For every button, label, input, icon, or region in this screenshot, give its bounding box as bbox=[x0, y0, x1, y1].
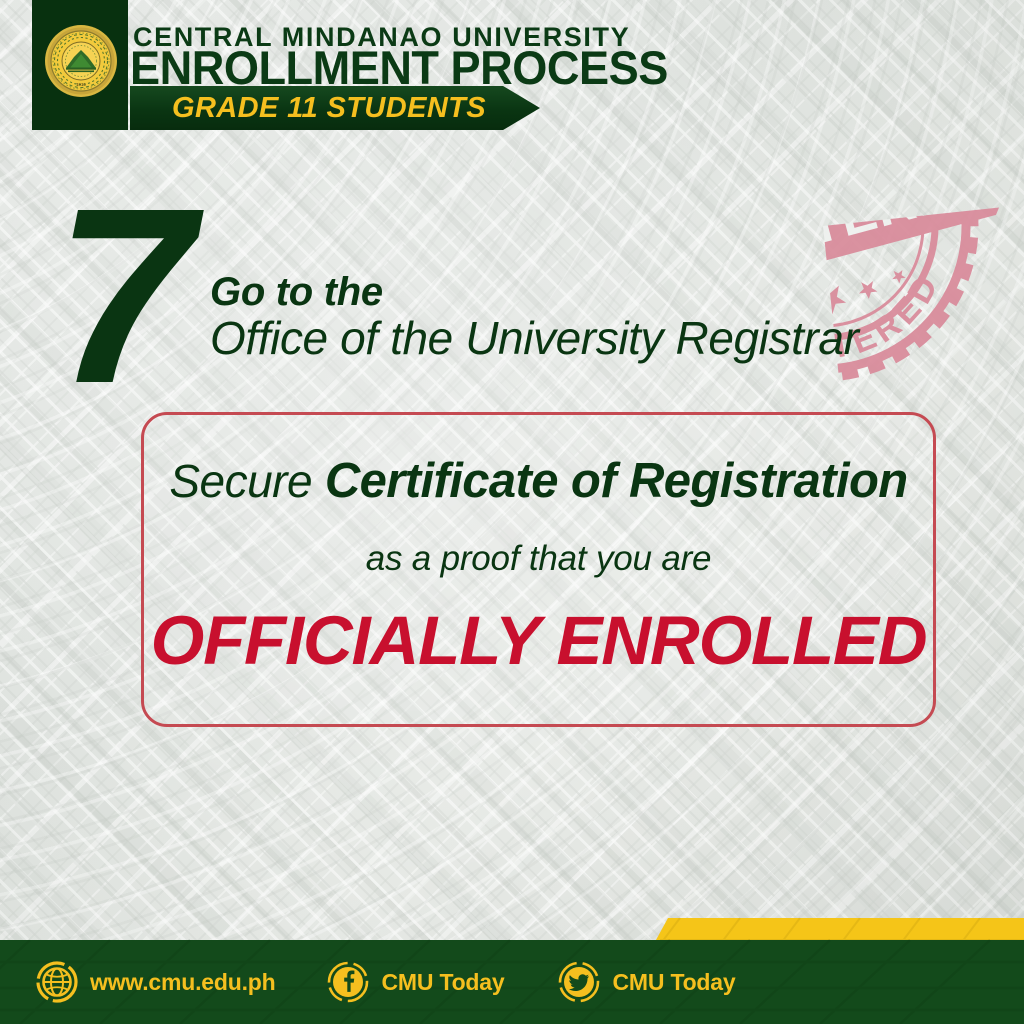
cmu-university-seal-icon: 1910 bbox=[44, 24, 118, 98]
footer-item-twitter[interactable]: CMU Today bbox=[558, 961, 735, 1003]
footer-links: www.cmu.edu.ph CMU Today bbox=[0, 940, 1024, 1024]
footer-facebook-label: CMU Today bbox=[381, 969, 504, 996]
poster-root: REGISTERED REGISTERED bbox=[0, 0, 1024, 1024]
instruction-line-1-prefix: Secure bbox=[169, 455, 312, 507]
globe-icon bbox=[36, 961, 78, 1003]
instruction-line-2: as a proof that you are bbox=[366, 539, 712, 579]
footer-item-website[interactable]: www.cmu.edu.ph bbox=[36, 961, 275, 1003]
instruction-line-1-emphasis: Certificate of Registration bbox=[325, 454, 908, 508]
audience-banner-label: GRADE 11 STUDENTS bbox=[172, 92, 486, 125]
page-title: ENROLLMENT PROCESS bbox=[130, 44, 668, 91]
footer-website-label: www.cmu.edu.ph bbox=[90, 969, 275, 996]
audience-banner: GRADE 11 STUDENTS bbox=[130, 86, 540, 130]
facebook-icon bbox=[327, 961, 369, 1003]
step-heading-line-2: Office of the University Registrar bbox=[210, 315, 859, 362]
instruction-line-1: Secure Certificate of Registration bbox=[169, 453, 907, 509]
poster-header: 1910 CENTRAL MINDANAO UNIVERSITY ENROLLM… bbox=[0, 0, 1024, 140]
twitter-icon bbox=[558, 961, 600, 1003]
step-heading: Go to the Office of the University Regis… bbox=[210, 272, 859, 362]
step-heading-line-1: Go to the bbox=[210, 272, 859, 313]
svg-text:1910: 1910 bbox=[76, 82, 86, 87]
footer-band: www.cmu.edu.ph CMU Today bbox=[0, 900, 1024, 1024]
instruction-box: Secure Certificate of Registration as a … bbox=[141, 412, 936, 727]
step-number: 7 bbox=[55, 186, 186, 406]
footer-twitter-label: CMU Today bbox=[612, 969, 735, 996]
footer-item-facebook[interactable]: CMU Today bbox=[327, 961, 504, 1003]
instruction-line-3: OFFICIALLY ENROLLED bbox=[151, 601, 927, 680]
